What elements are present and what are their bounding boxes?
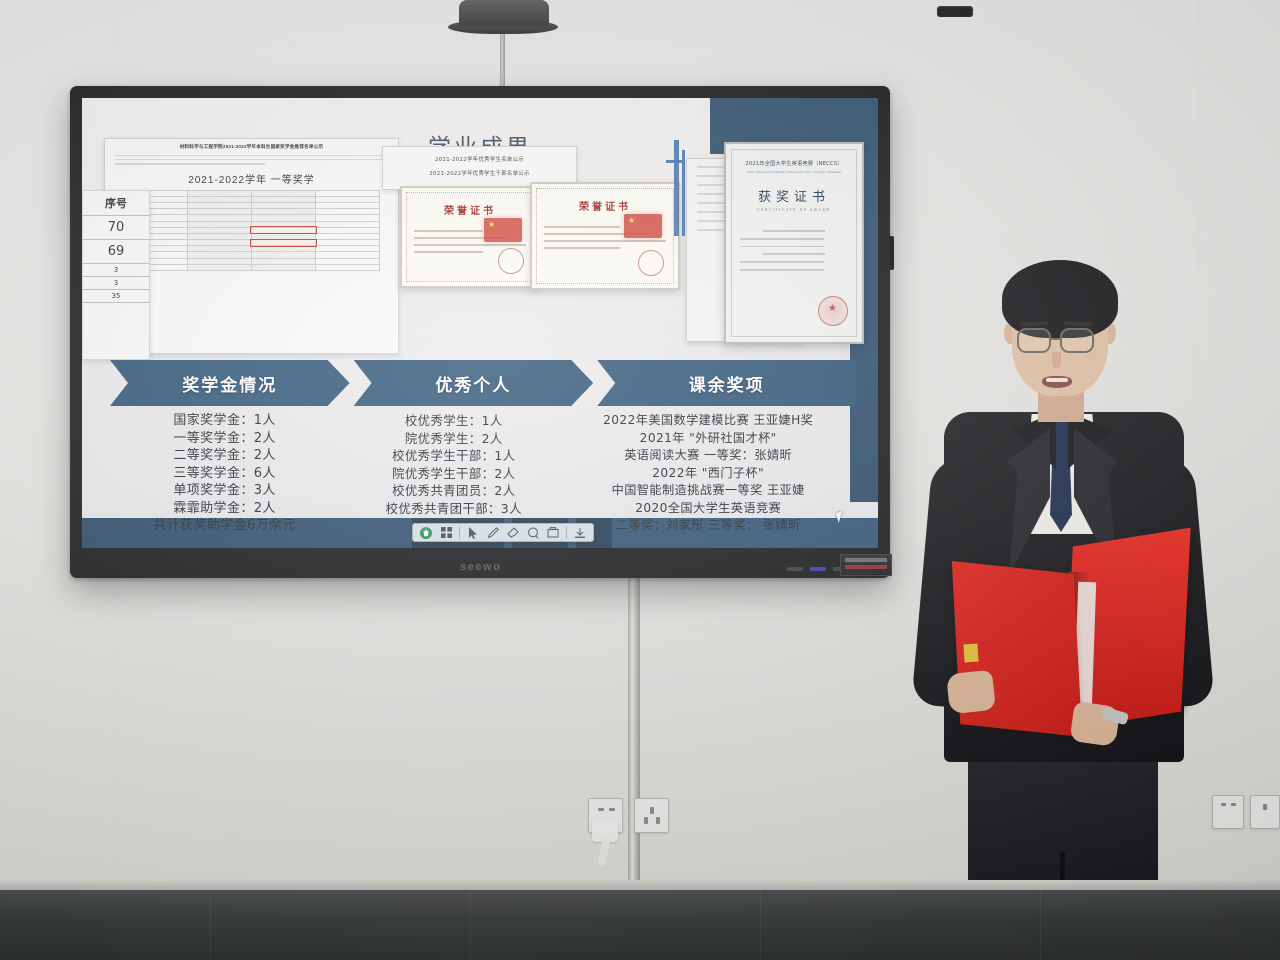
callout-row-4: 35	[83, 290, 149, 303]
scholarship-rank-callout: 序号 70 69 3 3 35	[82, 190, 150, 360]
list-item: 英语阅读大赛 一等奖：张婧昕	[568, 447, 848, 465]
toolbar-divider	[566, 527, 567, 539]
list-item: 一等奖学金：2人	[110, 430, 339, 448]
callout-header: 序号	[83, 191, 149, 216]
glasses-bridge	[1051, 338, 1061, 340]
more-tools-icon[interactable]	[572, 525, 589, 540]
document-title: 2021-2022学年 一等奖学	[105, 171, 398, 186]
socket-hole	[598, 808, 604, 811]
socket-hole	[1263, 804, 1267, 810]
presenter-nose	[1052, 352, 1061, 368]
socket-hole	[609, 808, 615, 811]
wall-baseboard	[0, 880, 1280, 890]
bezel-mark	[787, 567, 803, 571]
banner-label: 优秀个人	[435, 371, 511, 396]
banner-item-scholarship-situation[interactable]: 奖学金情况	[110, 360, 350, 406]
presenter-hair	[1002, 260, 1118, 338]
list-item: 校优秀学生：1人	[339, 412, 568, 430]
flag-icon	[624, 214, 662, 238]
socket-hole	[656, 817, 660, 824]
display-brand-logo: seewo	[460, 561, 502, 573]
list-item: 校优秀共青团员：2人	[339, 482, 568, 500]
socket-hole	[1221, 803, 1226, 806]
floor	[0, 890, 1280, 960]
camera-lens-icon	[937, 6, 973, 17]
official-stamp-icon	[818, 296, 848, 326]
home-icon[interactable]	[418, 525, 435, 540]
presenter	[900, 252, 1220, 932]
list-item: 2022年美国数学建模比赛 王亚婕H奖	[568, 412, 848, 430]
callout-row-3: 3	[83, 277, 149, 290]
interactive-flat-panel[interactable]: 学业成果 Academic Achievement 材料科学与工程学院2021-…	[70, 86, 890, 578]
presenter-hand-left	[946, 670, 996, 715]
list-item: 三等奖学金：6人	[110, 465, 339, 483]
slide-accent-bar-2	[682, 150, 685, 236]
presentation-slide: 学业成果 Academic Achievement 材料科学与工程学院2021-…	[82, 98, 878, 548]
ceiling-camera	[459, 0, 549, 26]
slide-accent-bar-1	[674, 140, 679, 236]
slide-accent-bar-3	[666, 160, 682, 163]
banner-item-outstanding-individual[interactable]: 优秀个人	[354, 360, 594, 406]
list-item: 校优秀学生干部：1人	[339, 447, 568, 465]
column-awards: 2022年美国数学建模比赛 王亚婕H奖 2021年 "外研社国才杯" 英语阅读大…	[568, 412, 848, 548]
display-stand-pole	[628, 568, 640, 920]
bezel-mark-blue	[810, 567, 826, 571]
classroom-scene: 学业成果 Academic Achievement 材料科学与工程学院2021-…	[0, 0, 1280, 960]
list-item: 院优秀学生干部：2人	[339, 465, 568, 483]
document-body-lines	[105, 155, 398, 165]
presenter-mouth	[1042, 376, 1072, 388]
banner-label: 课余奖项	[689, 371, 765, 396]
callout-row-1: 69	[83, 240, 149, 264]
wall-socket-2[interactable]	[634, 798, 669, 833]
list-item: 国家奖学金：1人	[110, 412, 339, 430]
display-screen[interactable]: 学业成果 Academic Achievement 材料科学与工程学院2021-…	[82, 98, 878, 548]
honor-certificate-2: 荣誉证书	[530, 182, 680, 290]
flag-icon	[484, 218, 522, 242]
lasso-select-icon[interactable]	[525, 525, 542, 540]
pen-icon[interactable]	[485, 525, 502, 540]
presenter-hand-right	[1069, 701, 1120, 747]
power-button[interactable]	[889, 236, 894, 270]
list-item: 中国智能制造挑战赛一等奖 王亚婕	[568, 482, 848, 500]
display-port-panel	[840, 554, 892, 576]
socket-hole	[1231, 803, 1236, 806]
wall-socket-3[interactable]	[1212, 795, 1244, 829]
section-banner: 奖学金情况 优秀个人 课余奖项	[110, 360, 856, 406]
scholarship-table	[123, 190, 381, 271]
banner-item-extracurricular-awards[interactable]: 课余奖项	[597, 360, 856, 406]
seal-icon	[638, 250, 664, 276]
socket-hole	[650, 807, 654, 814]
column-scholarship: 国家奖学金：1人 一等奖学金：2人 二等奖学金：2人 三等奖学金：6人 单项奖学…	[110, 412, 339, 548]
annotation-toolbar[interactable]	[412, 523, 594, 542]
glasses-lens-right	[1060, 328, 1094, 353]
port-slot-red	[845, 565, 887, 569]
notice-line-1: 2021-2022学年优秀学生名单公示	[383, 147, 576, 163]
list-item: 二等奖：刘家彤 三等奖： 张婧昕	[568, 517, 848, 535]
wall-socket-4[interactable]	[1250, 795, 1280, 829]
list-item: 院优秀学生：2人	[339, 430, 568, 448]
list-item: 霖霏助学金：2人	[110, 500, 339, 518]
notice-line-2: 2021-2022学年优秀学生干部名单公示	[383, 163, 576, 177]
folder-tab-marker	[963, 644, 978, 663]
list-item: 共计获奖助学金6万余元	[110, 517, 339, 535]
eraser-icon[interactable]	[505, 525, 522, 540]
glasses-lens-left	[1017, 328, 1051, 353]
list-item: 单项奖学金：3人	[110, 482, 339, 500]
callout-row-0: 70	[83, 216, 149, 240]
list-item: 校优秀共青团干部：3人	[339, 500, 568, 518]
award-certificate-front: 2021年全国大学生英语竞赛（NECCS） 2021 National Engl…	[724, 142, 864, 344]
banner-label: 奖学金情况	[182, 371, 277, 396]
port-slot	[845, 558, 887, 562]
list-item: 2021年 "外研社国才杯"	[568, 430, 848, 448]
list-item: 二等奖学金：2人	[110, 447, 339, 465]
screenshot-icon[interactable]	[545, 525, 562, 540]
socket-hole	[644, 817, 648, 824]
cursor-select-icon[interactable]	[465, 525, 482, 540]
toolbar-divider	[459, 527, 460, 539]
callout-row-2: 3	[83, 264, 149, 277]
honor-certificate-1: 荣誉证书	[400, 186, 540, 288]
document-header: 材料科学与工程学院2021-2022学年本科生国家奖学金推荐名单公示	[105, 139, 398, 152]
apps-grid-icon[interactable]	[438, 525, 455, 540]
list-item: 2022年 "西门子杯"	[568, 465, 848, 483]
list-item: 2020全国大学生英语竞赛	[568, 500, 848, 518]
seal-icon	[498, 248, 524, 274]
